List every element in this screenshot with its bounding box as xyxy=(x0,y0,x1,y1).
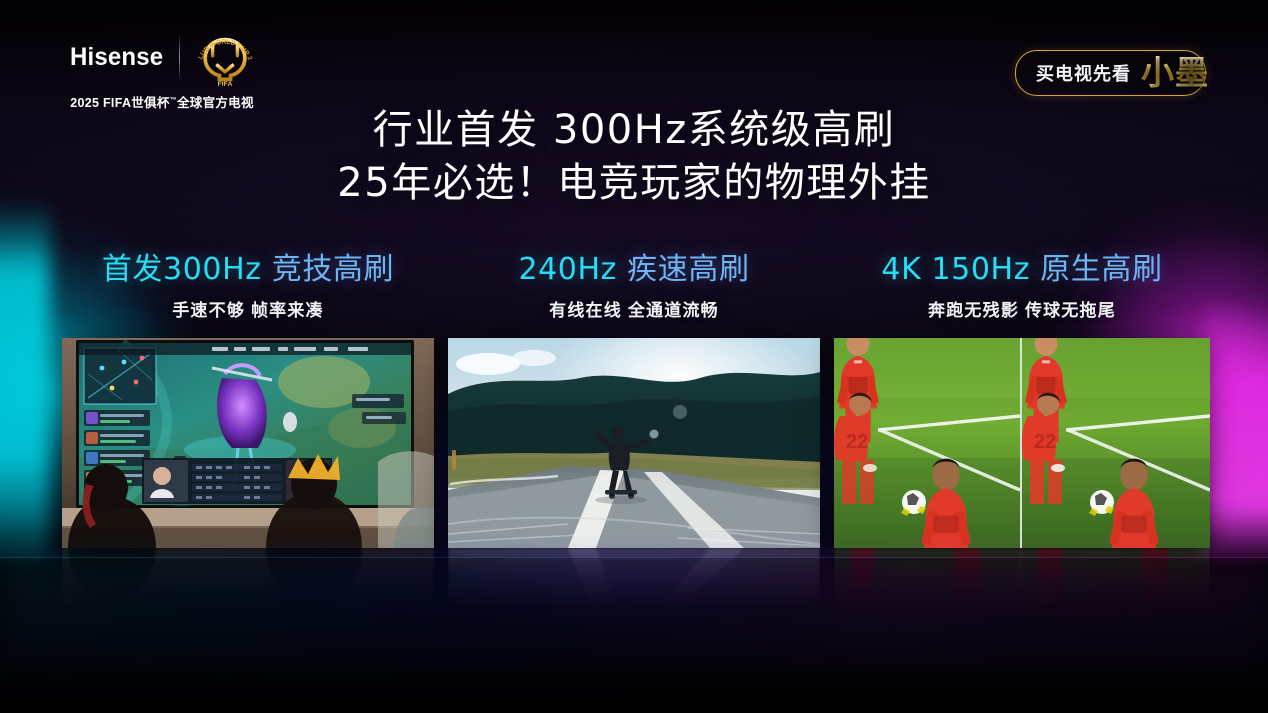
kol-badge-label: 买电视先看 xyxy=(1036,60,1131,86)
brand-divider xyxy=(179,33,180,81)
feature-3-heading: 4K 150Hz 原生高刷 奔跑无残影 传球无拖尾 xyxy=(834,252,1210,321)
feature-1-heading: 首发300Hz 竞技高刷 手速不够 帧率来凑 xyxy=(62,252,434,321)
floor-horizon-line xyxy=(0,557,1268,558)
football-split-screen-illustration: 22 xyxy=(834,338,1210,548)
feature-2-subtitle: 有线在线 全通道流畅 xyxy=(448,296,820,321)
feature-2-title-secondary: 疾速高刷 xyxy=(627,252,749,287)
svg-text:CLUB WORLD CUP 25: CLUB WORLD CUP 25 xyxy=(194,26,253,62)
feature-1-title-secondary: 竞技高刷 xyxy=(272,252,394,287)
feature-2-title-primary: 240Hz xyxy=(518,252,617,287)
feature-column-3: 4K 150Hz 原生高刷 奔跑无残影 传球无拖尾 xyxy=(834,252,1210,321)
fifa-logo-text: FIFA xyxy=(218,81,233,88)
feature-2-title: 240Hz 疾速高刷 xyxy=(448,252,820,289)
feature-1-subtitle: 手速不够 帧率来凑 xyxy=(62,296,434,321)
moba-game-on-tv-illustration xyxy=(62,338,434,548)
feature-3-subtitle: 奔跑无残影 传球无拖尾 xyxy=(834,296,1210,321)
feature-columns: 首发300Hz 竞技高刷 手速不够 帧率来凑 xyxy=(0,252,1268,552)
skateboarder-road-illustration xyxy=(448,338,820,548)
media-panel-skateboarder[interactable] xyxy=(448,338,820,548)
feature-column-2: 240Hz 疾速高刷 有线在线 全通道流畅 xyxy=(448,252,820,321)
hero-title-line-2: 25年必选！电竞玩家的物理外挂 xyxy=(0,157,1268,210)
kol-badge[interactable]: 买电视先看 小墨 xyxy=(1015,50,1206,96)
feature-3-title-secondary: 原生高刷 xyxy=(1040,252,1162,287)
presentation-slide: Hisense CLUB WORLD CUP 25 FIFA xyxy=(0,0,1268,713)
svg-text:22: 22 xyxy=(846,431,868,453)
brand-row: Hisense CLUB WORLD CUP 25 FIFA xyxy=(68,28,256,86)
feature-2-heading: 240Hz 疾速高刷 有线在线 全通道流畅 xyxy=(448,252,820,321)
svg-text:22: 22 xyxy=(1034,431,1056,453)
hero-title-line-1: 行业首发 300Hz系统级高刷 xyxy=(0,104,1268,157)
kol-badge-name: 小墨 xyxy=(1141,56,1209,89)
feature-3-title-primary: 4K 150Hz xyxy=(881,252,1030,287)
brand-lockup: Hisense CLUB WORLD CUP 25 FIFA xyxy=(62,28,262,111)
hero-title: 行业首发 300Hz系统级高刷 25年必选！电竞玩家的物理外挂 xyxy=(0,104,1268,210)
fifa-club-world-cup-25-logo: CLUB WORLD CUP 25 FIFA xyxy=(194,26,256,88)
hisense-wordmark: Hisense xyxy=(70,43,163,72)
glossy-floor xyxy=(0,558,1268,713)
trademark-symbol: ™ xyxy=(170,97,177,104)
feature-3-title: 4K 150Hz 原生高刷 xyxy=(834,252,1210,289)
feature-1-title: 首发300Hz 竞技高刷 xyxy=(62,252,434,289)
feature-column-1: 首发300Hz 竞技高刷 手速不够 帧率来凑 xyxy=(62,252,434,321)
media-panel-football-split[interactable]: 22 xyxy=(834,338,1210,548)
media-panel-moba-game[interactable] xyxy=(62,338,434,548)
feature-1-title-primary: 首发300Hz xyxy=(102,252,262,287)
